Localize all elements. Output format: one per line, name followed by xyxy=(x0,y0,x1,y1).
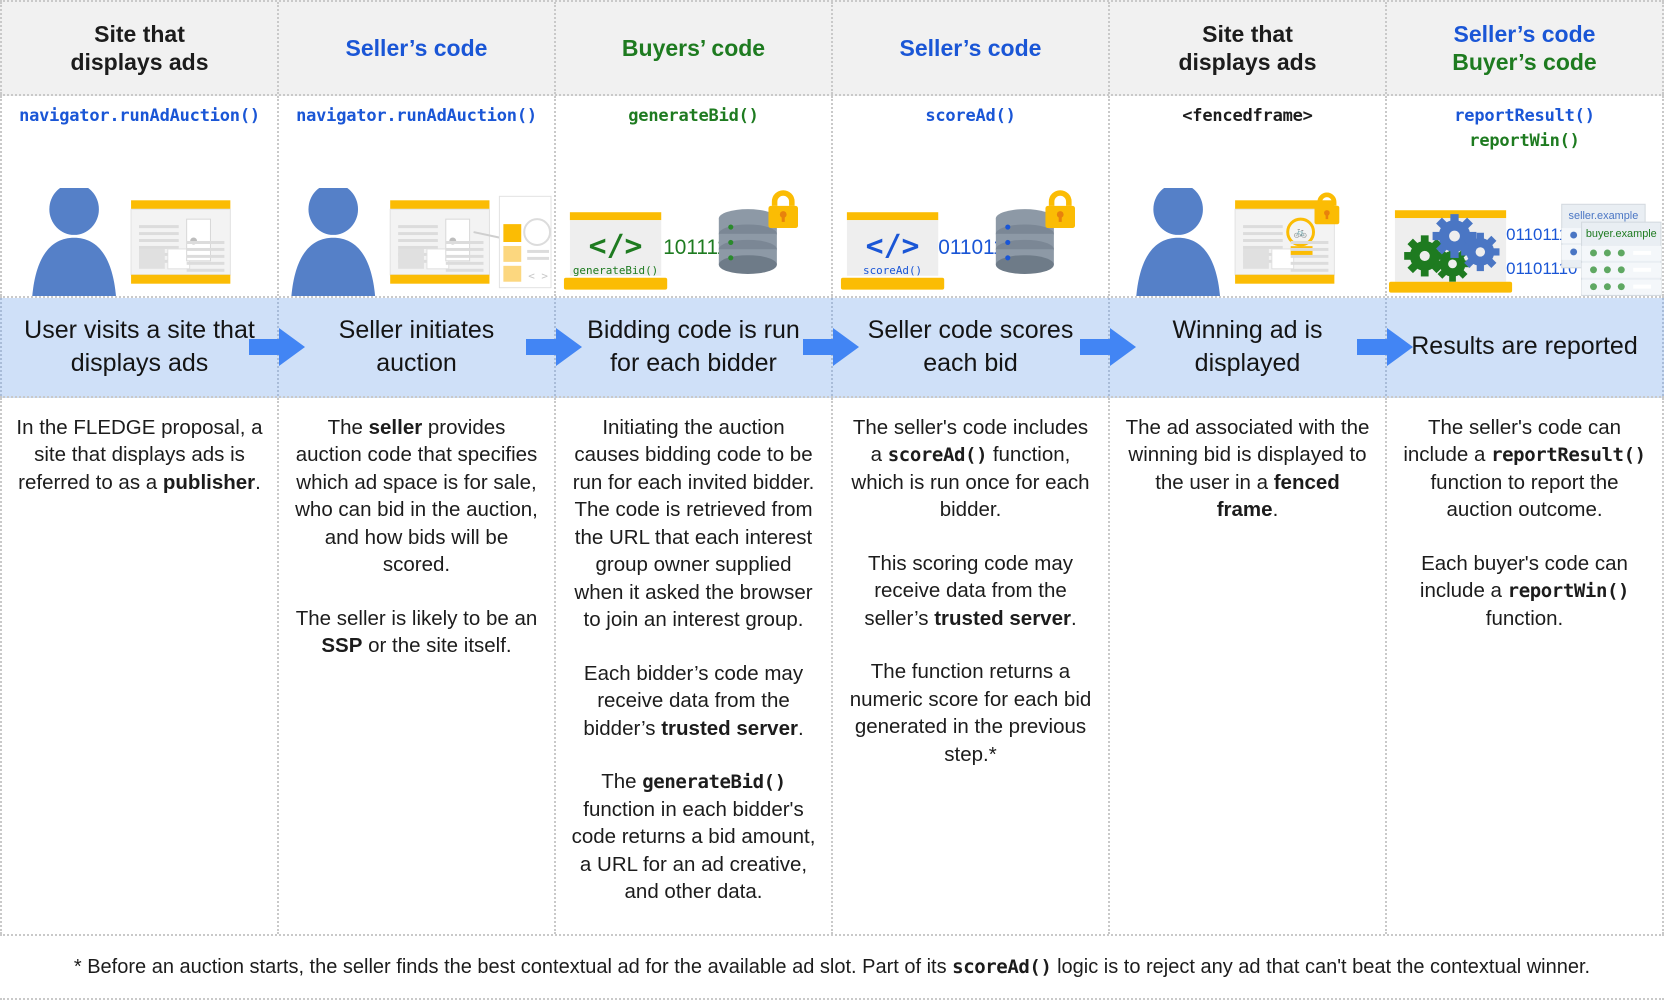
step-cell-3: Bidding code is run for each bidder xyxy=(556,298,833,396)
artwork-person-at-laptop-locked-ad: 🚲 xyxy=(1110,188,1385,296)
api-name: navigator.runAdAuction() xyxy=(2,104,277,129)
svg-text:</>: </> xyxy=(589,229,643,264)
illustration-cell-1: navigator.runAdAuction() xyxy=(0,96,279,296)
description-paragraph: Each bidder’s code may receive data from… xyxy=(570,660,817,742)
api-label-2: navigator.runAdAuction() xyxy=(279,104,554,129)
flow-arrow-icon xyxy=(1080,327,1136,367)
description-cell-6: The seller's code can include a reportRe… xyxy=(1387,398,1664,934)
header-row: Site thatdisplays adsSeller’s codeBuyers… xyxy=(0,0,1664,96)
artwork-code-laptop-database-green: </> generateBid() 1011110 xyxy=(556,188,831,296)
column-header-line: Site that xyxy=(94,20,185,48)
description-cell-4: The seller's code includes a scoreAd() f… xyxy=(833,398,1110,934)
column-header-line: displays ads xyxy=(70,48,208,76)
description-paragraph: The function returns a numeric score for… xyxy=(847,658,1094,768)
description-cell-2: The seller provides auction code that sp… xyxy=(279,398,556,934)
api-name: scoreAd() xyxy=(833,104,1108,129)
emphasis: publisher xyxy=(163,471,255,494)
emphasis: SSP xyxy=(321,634,362,657)
artwork-gears-laptop-servers: 0110111 01101110 seller.example buyer.ex… xyxy=(1387,188,1662,296)
code-token: scoreAd() xyxy=(888,444,987,466)
emphasis: fenced frame xyxy=(1217,471,1340,521)
api-name: reportResult() xyxy=(1387,104,1662,129)
illustration-graphic xyxy=(2,188,277,296)
step-label: Bidding code is run for each bidder xyxy=(556,314,831,381)
column-header-3: Buyers’ code xyxy=(556,2,833,94)
description-paragraph: The seller's code includes a scoreAd() f… xyxy=(847,414,1094,524)
flow-arrow-icon xyxy=(249,327,305,367)
step-cell-6: Results are reported xyxy=(1387,298,1664,396)
emphasis: trusted server xyxy=(934,607,1071,630)
description-paragraph: The seller's code can include a reportRe… xyxy=(1401,414,1648,524)
step-label: Seller initiates auction xyxy=(279,314,554,381)
flow-arrow-icon xyxy=(1357,327,1413,367)
illustration-graphic: 🚲 xyxy=(1110,188,1385,296)
api-name: reportWin() xyxy=(1387,129,1662,154)
column-header-5: Site thatdisplays ads xyxy=(1110,2,1387,94)
column-header-line: Seller’s code xyxy=(1454,20,1596,48)
svg-text:generateBid(): generateBid() xyxy=(573,264,658,277)
description-cell-1: In the FLEDGE proposal, a site that disp… xyxy=(0,398,279,934)
illustration-graphic: < > xyxy=(279,188,554,296)
step-label: Results are reported xyxy=(1389,330,1660,363)
illustration-row: navigator.runAdAuction() navigator.runAd… xyxy=(0,96,1664,298)
illustration-cell-6: reportResult()reportWin() 0110111 011011… xyxy=(1387,96,1664,296)
column-header-line: displays ads xyxy=(1178,48,1316,76)
column-header-line: Buyers’ code xyxy=(622,34,765,62)
step-cell-2: Seller initiates auction xyxy=(279,298,556,396)
svg-text:scoreAd(): scoreAd() xyxy=(863,264,922,277)
svg-text:0110111: 0110111 xyxy=(1506,225,1568,244)
step-cell-4: Seller code scores each bid xyxy=(833,298,1110,396)
illustration-cell-3: generateBid() </> generateBid() 1011110 xyxy=(556,96,833,296)
api-label-1: navigator.runAdAuction() xyxy=(2,104,277,129)
flow-arrow-icon xyxy=(803,327,859,367)
description-paragraph: This scoring code may receive data from … xyxy=(847,550,1094,632)
svg-text:seller.example: seller.example xyxy=(1569,210,1639,222)
description-paragraph: The seller is likely to be an SSP or the… xyxy=(293,605,540,660)
code-token: reportWin() xyxy=(1508,580,1629,602)
flow-arrow-icon xyxy=(526,327,582,367)
api-name: navigator.runAdAuction() xyxy=(279,104,554,129)
code-token: reportResult() xyxy=(1491,444,1646,466)
description-paragraph: Each buyer's code can include a reportWi… xyxy=(1401,550,1648,632)
description-row: In the FLEDGE proposal, a site that disp… xyxy=(0,398,1664,936)
illustration-cell-4: scoreAd() </> scoreAd() 0110111 xyxy=(833,96,1110,296)
footnote-text: * Before an auction starts, the seller f… xyxy=(74,956,1590,979)
svg-text:</>: </> xyxy=(866,229,920,264)
illustration-graphic: </> scoreAd() 0110111 xyxy=(833,188,1108,296)
api-name: generateBid() xyxy=(556,104,831,129)
step-cell-5: Winning ad is displayed xyxy=(1110,298,1387,396)
description-paragraph: In the FLEDGE proposal, a site that disp… xyxy=(16,414,263,496)
api-label-4: scoreAd() xyxy=(833,104,1108,129)
description-paragraph: Initiating the auction causes bidding co… xyxy=(570,414,817,634)
column-header-2: Seller’s code xyxy=(279,2,556,94)
step-band-row: User visits a site that displays ads Sel… xyxy=(0,298,1664,398)
column-header-line: Seller’s code xyxy=(346,34,488,62)
footnote-row: * Before an auction starts, the seller f… xyxy=(0,936,1664,1000)
step-cell-1: User visits a site that displays ads xyxy=(0,298,279,396)
illustration-graphic: 0110111 01101110 seller.example buyer.ex… xyxy=(1387,188,1662,296)
step-label: Winning ad is displayed xyxy=(1110,314,1385,381)
illustration-graphic: </> generateBid() 1011110 xyxy=(556,188,831,296)
fledge-auction-flow-diagram: Site thatdisplays adsSeller’s codeBuyers… xyxy=(0,0,1664,1000)
illustration-cell-2: navigator.runAdAuction() < > xyxy=(279,96,556,296)
column-header-4: Seller’s code xyxy=(833,2,1110,94)
illustration-cell-5: <fencedframe> 🚲 xyxy=(1110,96,1387,296)
svg-text:🚲: 🚲 xyxy=(1294,226,1308,238)
artwork-person-at-laptop xyxy=(2,188,277,296)
description-paragraph: The generateBid() function in each bidde… xyxy=(570,768,817,905)
column-header-6: Seller’s codeBuyer’s code xyxy=(1387,2,1664,94)
api-name: <fencedframe> xyxy=(1110,104,1385,129)
step-label: User visits a site that displays ads xyxy=(2,314,277,381)
code-token: generateBid() xyxy=(642,771,786,793)
emphasis: seller xyxy=(369,416,423,439)
api-label-3: generateBid() xyxy=(556,104,831,129)
svg-text:buyer.example: buyer.example xyxy=(1586,228,1657,240)
artwork-person-at-laptop-with-panel: < > xyxy=(279,188,554,296)
api-label-5: <fencedframe> xyxy=(1110,104,1385,129)
emphasis: trusted server xyxy=(661,717,798,740)
column-header-1: Site thatdisplays ads xyxy=(0,2,279,94)
artwork-code-laptop-database-blue: </> scoreAd() 0110111 xyxy=(833,188,1108,296)
api-label-6: reportResult()reportWin() xyxy=(1387,104,1662,153)
description-cell-5: The ad associated with the winning bid i… xyxy=(1110,398,1387,934)
svg-text:< >: < > xyxy=(528,270,548,283)
description-cell-3: Initiating the auction causes bidding co… xyxy=(556,398,833,934)
step-label: Seller code scores each bid xyxy=(833,314,1108,381)
column-header-line: Buyer’s code xyxy=(1452,48,1596,76)
description-paragraph: The seller provides auction code that sp… xyxy=(293,414,540,579)
code-token: scoreAd() xyxy=(952,956,1051,978)
column-header-line: Site that xyxy=(1202,20,1293,48)
column-header-line: Seller’s code xyxy=(900,34,1042,62)
description-paragraph: The ad associated with the winning bid i… xyxy=(1124,414,1371,524)
